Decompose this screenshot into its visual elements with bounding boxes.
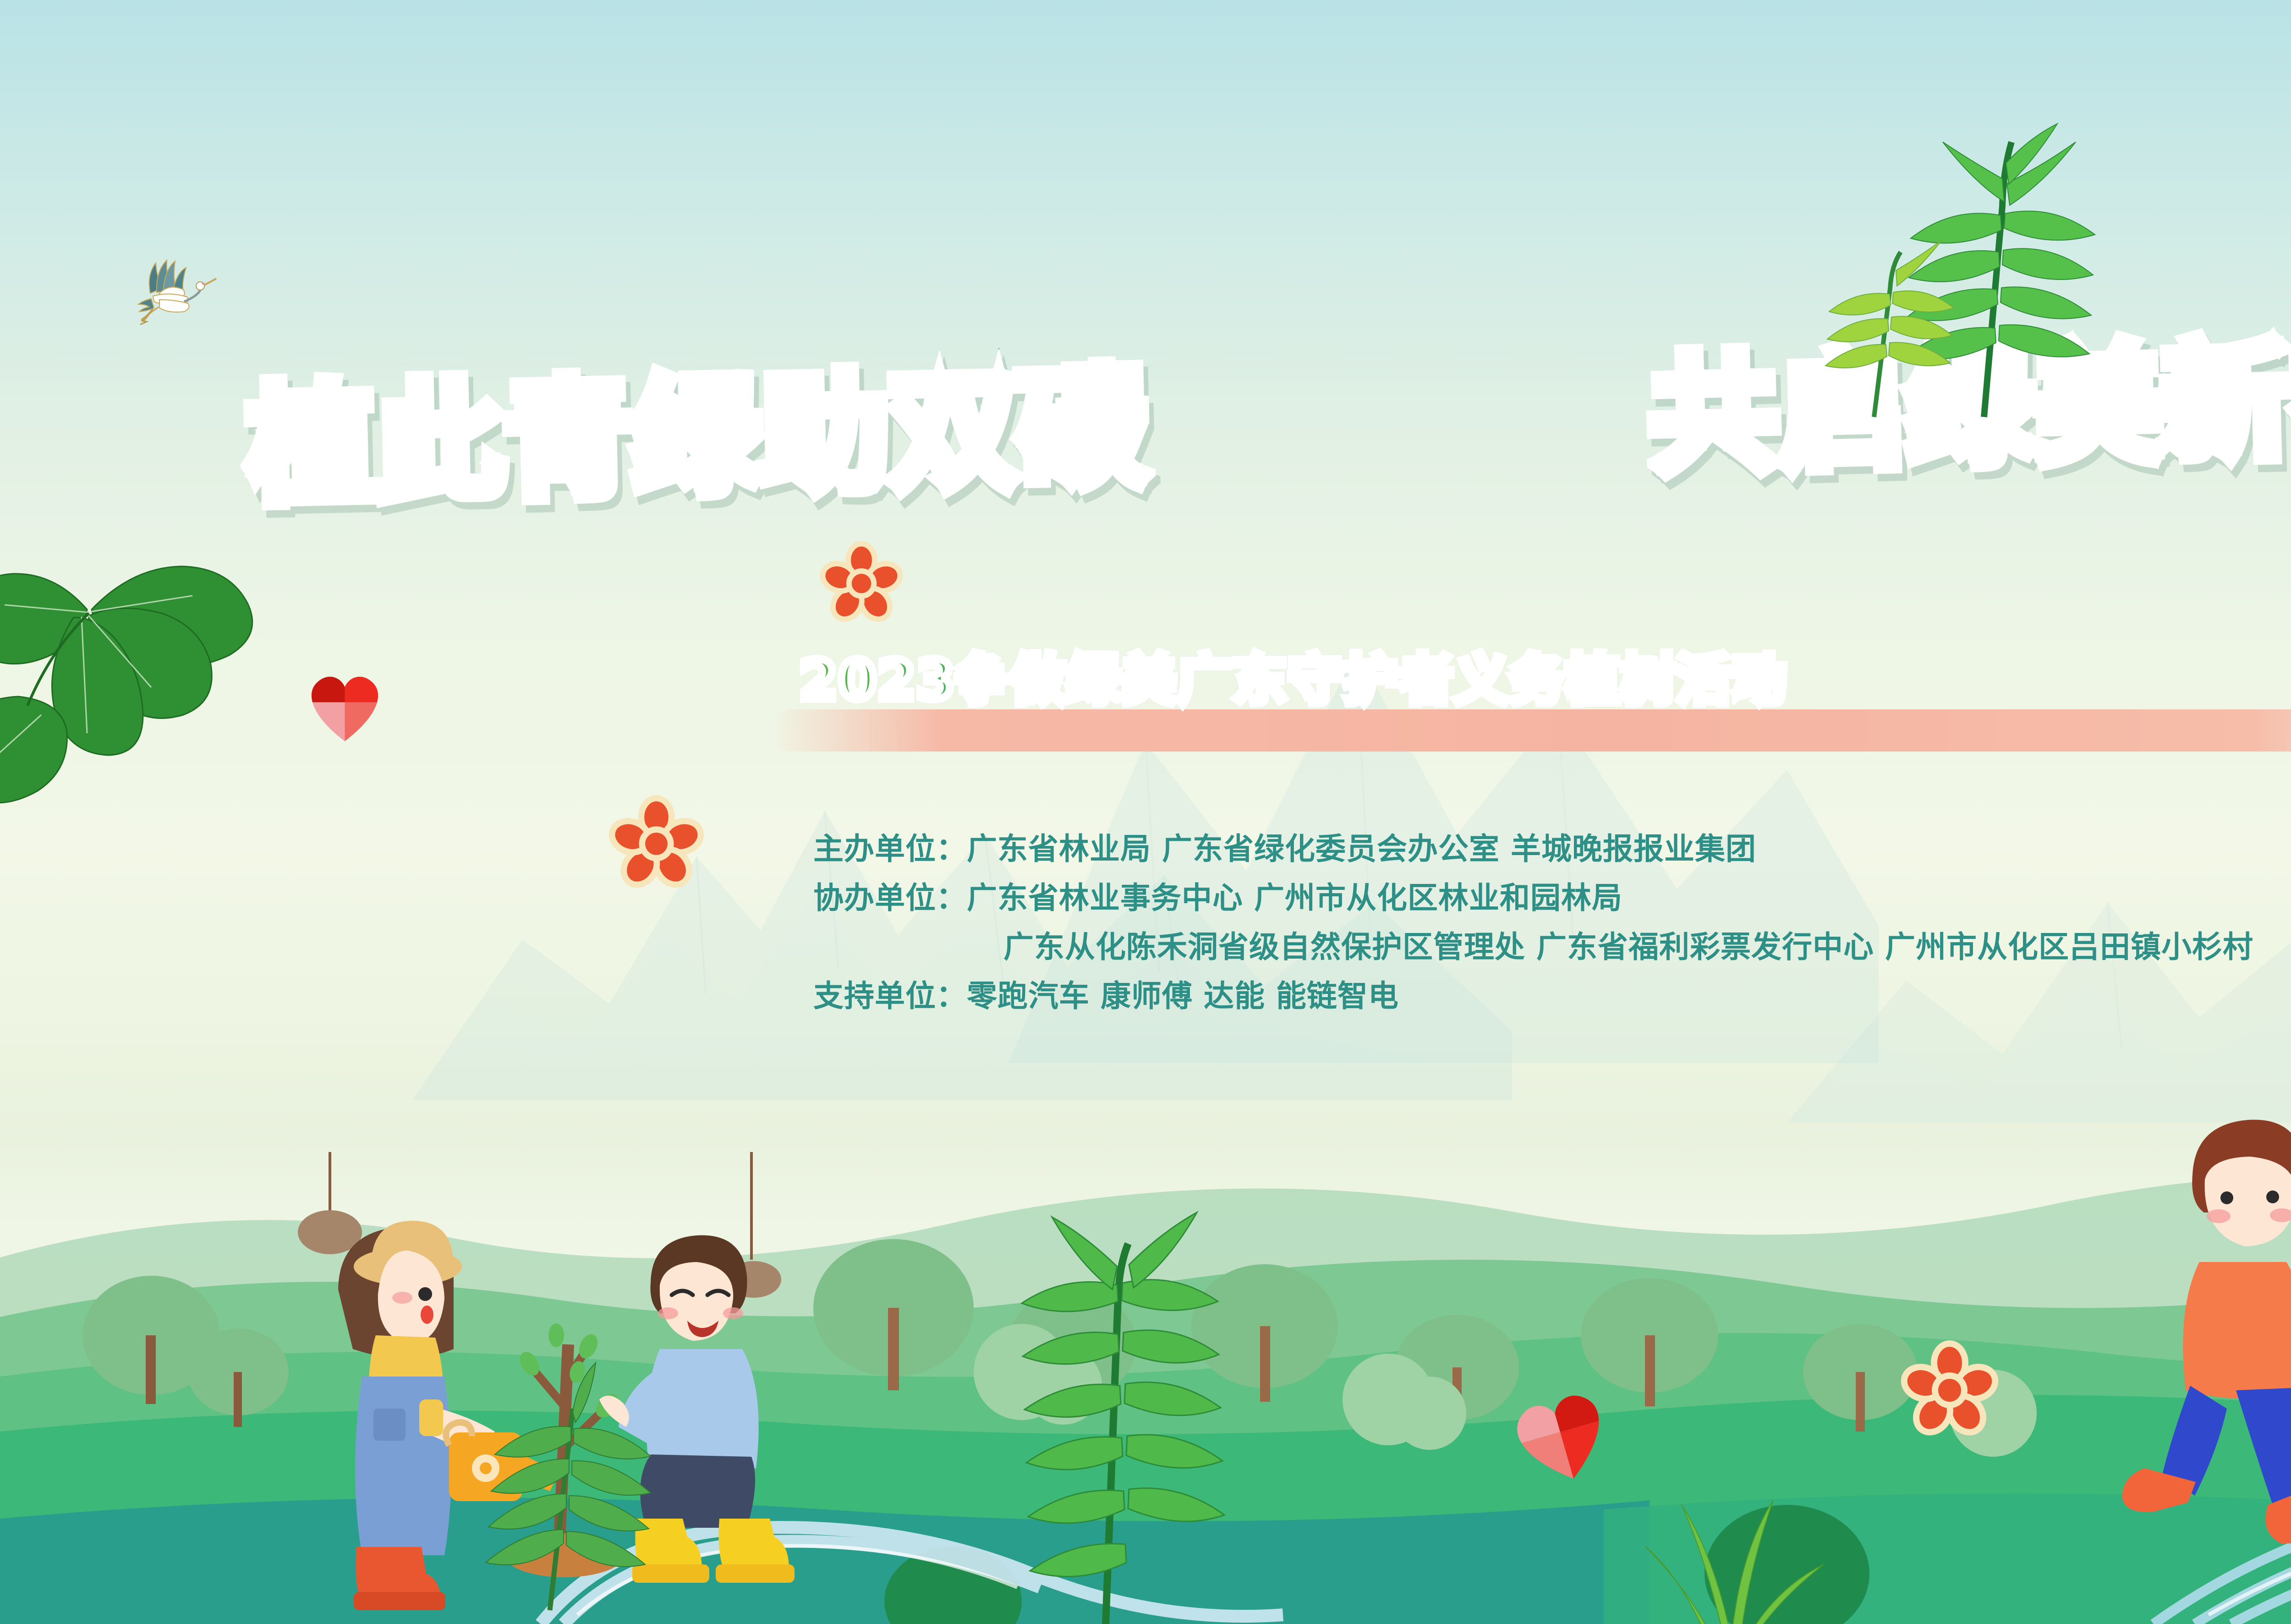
organizer-value-3: 零跑汽车 康师傅 达能 能链智电 xyxy=(967,978,1399,1014)
title-line-1: 植此青绿助双碳 xyxy=(246,325,1147,528)
organizer-value-2: 广东从化陈禾洞省级自然保护区管理处 广东省福利彩票发行中心 广州市从化区吕田镇小… xyxy=(1003,929,2253,965)
organizer-row-0: 主办单位：广东省林业局 广东省绿化委员会办公室 羊城晚报报业集团 xyxy=(813,825,2253,874)
organizer-row-1: 协办单位：广东省林业事务中心 广州市从化区林业和园林局 xyxy=(813,874,2253,923)
right-children-illustration xyxy=(2089,1070,2291,1597)
parsley-leaf-left xyxy=(0,458,312,871)
palm-frond-top xyxy=(1787,69,2199,417)
organizer-label-3: 支持单位： xyxy=(813,978,967,1014)
right-boy xyxy=(2122,1119,2291,1544)
poster-canvas: 植此青绿助双碳 共启绿美新视野 2023争做绿美广东守护者义务植树活动 xyxy=(0,0,2291,1624)
organizer-label-1: 协办单位： xyxy=(813,880,967,916)
left-children-illustration xyxy=(257,1152,816,1610)
organizer-row-2: 广东从化陈禾洞省级自然保护区管理处 广东省福利彩票发行中心 广州市从化区吕田镇小… xyxy=(813,923,2253,972)
flower-icon-bottom xyxy=(1904,1343,1995,1434)
organizer-label-0: 主办单位： xyxy=(813,831,967,867)
crane-bird-icon xyxy=(133,247,234,335)
heart-icon-left xyxy=(302,660,387,745)
organizer-row-3: 支持单位：零跑汽车 康师傅 达能 能链智电 xyxy=(813,972,2253,1021)
organizer-block: 主办单位：广东省林业局 广东省绿化委员会办公室 羊城晚报报业集团 协办单位：广东… xyxy=(813,825,2253,1021)
organizer-value-0: 广东省林业局 广东省绿化委员会办公室 羊城晚报报业集团 xyxy=(967,831,1756,867)
grass-blades-center xyxy=(1567,1441,1888,1624)
organizer-value-1: 广东省林业事务中心 广州市从化区林业和园林局 xyxy=(967,880,1622,916)
fern-center xyxy=(889,1134,1347,1624)
flower-icon-title-1 xyxy=(822,543,900,621)
flower-icon-left xyxy=(612,797,701,887)
